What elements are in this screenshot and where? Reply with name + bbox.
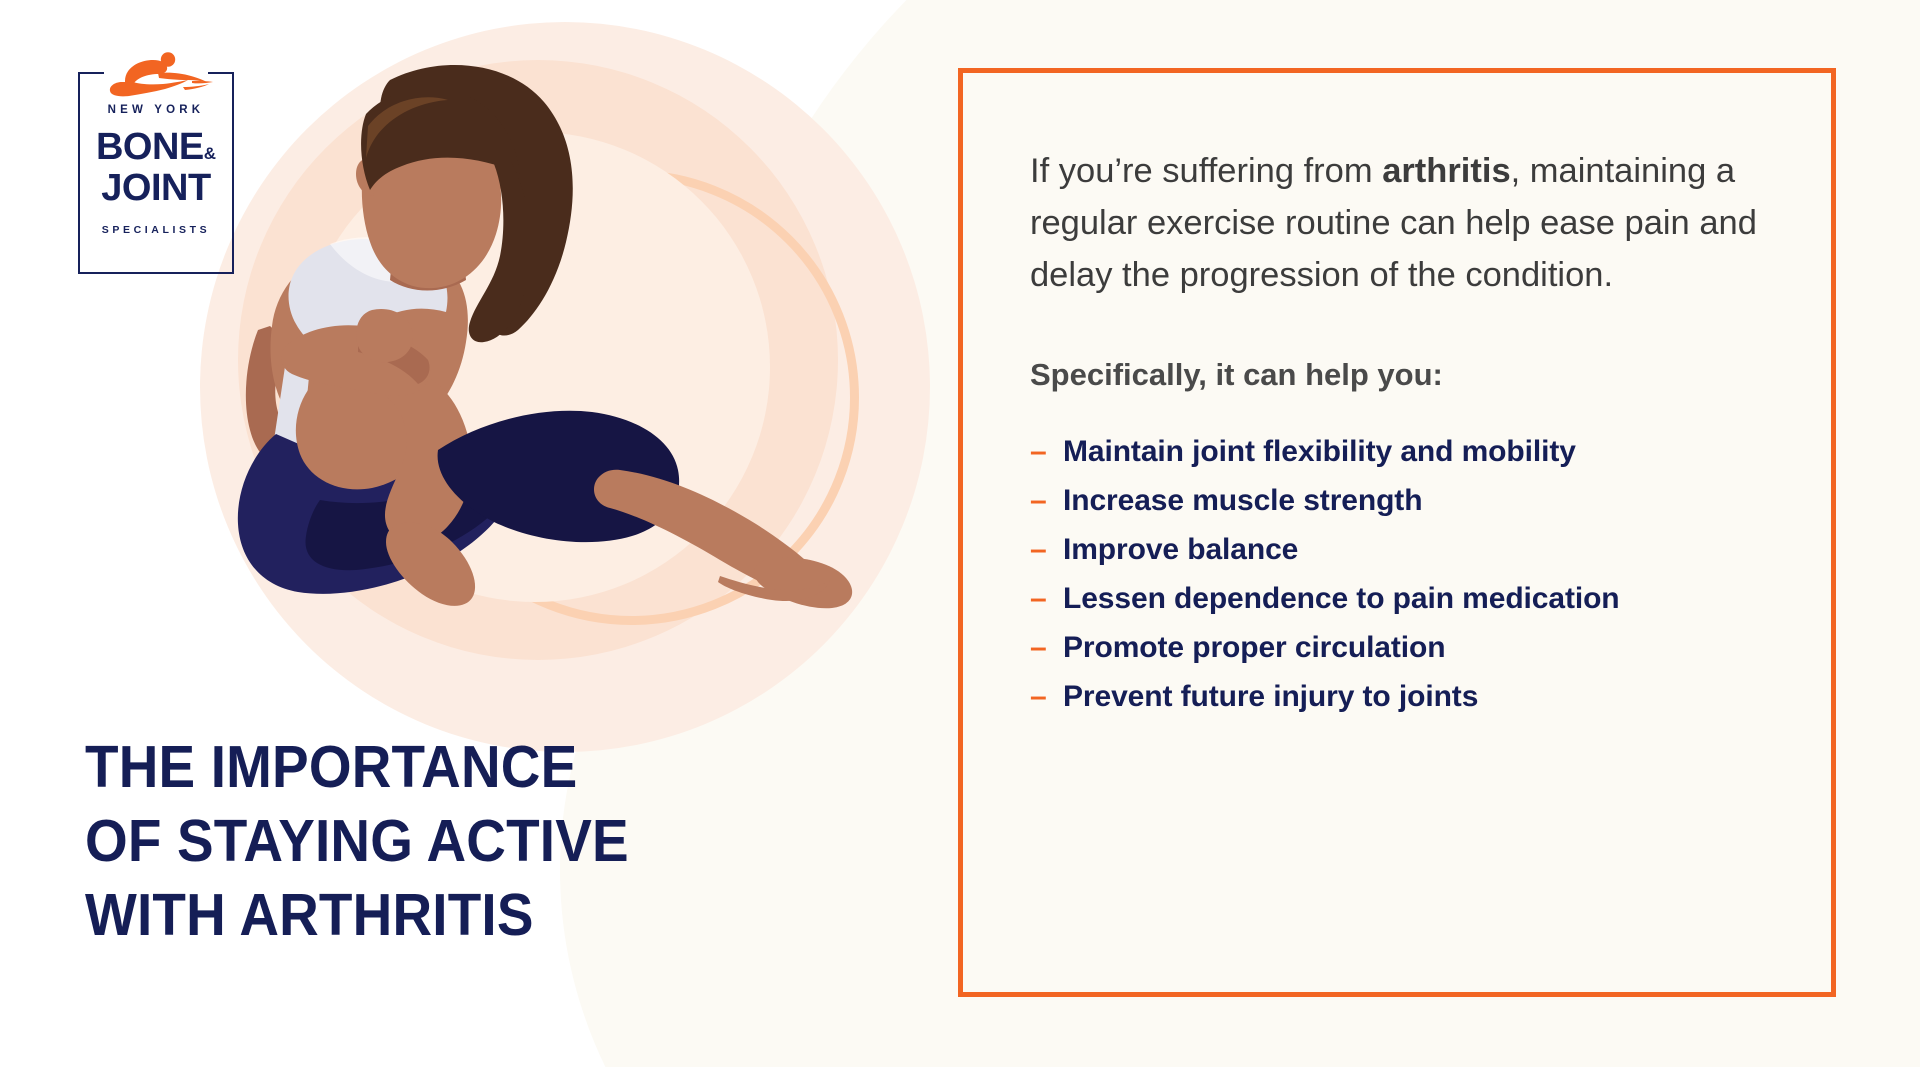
list-item: – Promote proper circulation (1030, 630, 1790, 666)
list-item-label: Lessen dependence to pain medication (1063, 581, 1620, 617)
dash-marker-icon: – (1030, 532, 1063, 568)
reclining-figure-icon (95, 51, 219, 99)
list-item-label: Improve balance (1063, 532, 1298, 568)
intro-bold-term: arthritis (1382, 152, 1510, 190)
headline-line-3: WITH ARTHRITIS (85, 878, 829, 952)
intro-text-before: If you’re suffering from (1030, 152, 1382, 190)
logo-ampersand: & (204, 144, 216, 163)
list-item: – Improve balance (1030, 532, 1790, 568)
list-item-label: Promote proper circulation (1063, 630, 1445, 666)
dash-marker-icon: – (1030, 483, 1063, 519)
list-item: – Lessen dependence to pain medication (1030, 581, 1790, 617)
logo-city-text: NEW YORK (78, 104, 234, 116)
logo-joint-text: JOINT (78, 169, 234, 207)
intro-paragraph: If you’re suffering from arthritis, main… (1030, 145, 1790, 301)
benefits-subheading: Specifically, it can help you: (1030, 355, 1790, 395)
list-item: – Maintain joint flexibility and mobilit… (1030, 434, 1790, 470)
headline-line-1: THE IMPORTANCE (85, 730, 829, 804)
list-item-label: Prevent future injury to joints (1063, 679, 1478, 715)
list-item-label: Increase muscle strength (1063, 483, 1422, 519)
dash-marker-icon: – (1030, 581, 1063, 617)
headline-line-2: OF STAYING ACTIVE (85, 804, 829, 878)
far-foot (754, 558, 852, 609)
list-item: – Prevent future injury to joints (1030, 679, 1790, 715)
logo-bone-word: BONE (96, 126, 204, 168)
page-title: THE IMPORTANCE OF STAYING ACTIVE WITH AR… (85, 730, 829, 952)
brand-logo[interactable]: NEW YORK BONE& JOINT SPECIALISTS (78, 72, 234, 274)
info-panel-content: If you’re suffering from arthritis, main… (1030, 145, 1790, 728)
woman-sitting-illustration (180, 30, 1010, 710)
list-item-label: Maintain joint flexibility and mobility (1063, 434, 1576, 470)
logo-bone-text: BONE& (78, 128, 234, 166)
figure-group (238, 65, 852, 608)
dash-marker-icon: – (1030, 679, 1063, 715)
list-item: – Increase muscle strength (1030, 483, 1790, 519)
benefits-list: – Maintain joint flexibility and mobilit… (1030, 434, 1790, 715)
dash-marker-icon: – (1030, 434, 1063, 470)
logo-specialists-text: SPECIALISTS (78, 224, 234, 236)
dash-marker-icon: – (1030, 630, 1063, 666)
